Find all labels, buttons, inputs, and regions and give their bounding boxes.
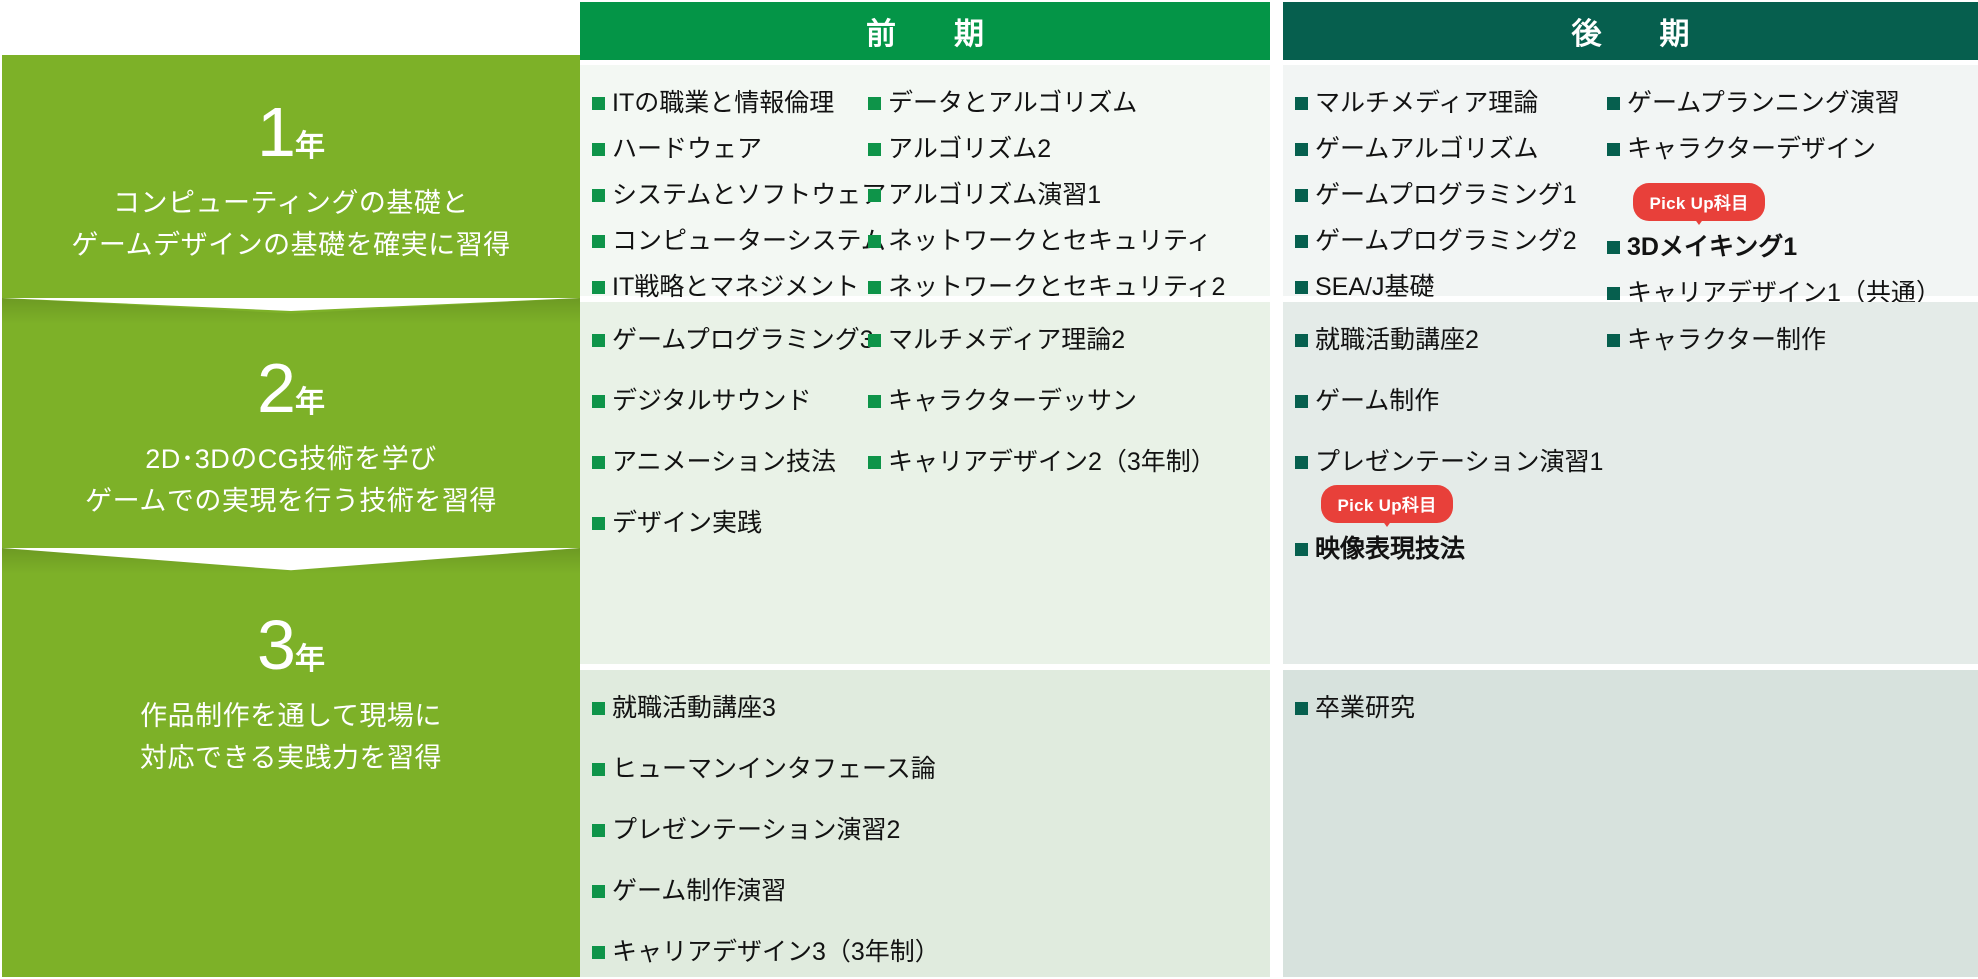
year-2-suffix: 年 (295, 386, 325, 419)
year-3-number-row: 3年 (2, 610, 580, 680)
course-item[interactable]: プレゼンテーション演習1 (1295, 450, 1607, 475)
course-item[interactable]: アルゴリズム演習1 (868, 183, 1208, 208)
bullet-square-icon (868, 395, 881, 408)
cell-year1-semester1-col2: データとアルゴリズム アルゴリズム2 アルゴリズム演習1 ネットワークとセキュリ… (868, 91, 1208, 296)
header-semester-2-label: 後 期 (1558, 9, 1704, 53)
bullet-square-icon (868, 334, 881, 347)
bullet-square-icon (592, 235, 605, 248)
course-item[interactable]: キャリアデザイン2（3年制） (868, 450, 1208, 475)
course-label: キャラクター制作 (1627, 328, 1826, 353)
year-panel-1: 1年 コンピューティングの基礎と ゲームデザインの基礎を確実に習得 (2, 55, 580, 298)
course-item[interactable]: ヒューマンインタフェース論 (592, 757, 992, 782)
course-item[interactable]: キャラクターデッサン (868, 389, 1208, 414)
course-item[interactable]: デジタルサウンド (592, 389, 868, 414)
cell-year3-semester1: 就職活動講座3 ヒューマンインタフェース論 プレゼンテーション演習2 ゲーム制作… (580, 670, 1270, 977)
course-item[interactable]: ハードウェア (592, 137, 868, 162)
course-item[interactable]: コンピューターシステム (592, 229, 868, 254)
course-label: デザイン実践 (612, 511, 762, 536)
course-item[interactable]: 卒業研究 (1295, 696, 1695, 721)
year-1-number: 1 (257, 93, 295, 171)
year-2-number-row: 2年 (2, 353, 580, 423)
pickup-badge-year2: Pick Up科目 (1321, 485, 1453, 523)
course-label: アルゴリズム2 (888, 137, 1051, 162)
course-label: ゲームプログラミング3 (612, 328, 874, 353)
course-item[interactable]: ITの職業と情報倫理 (592, 91, 868, 116)
cell-year2-semester2-col1: 就職活動講座2 ゲーム制作 プレゼンテーション演習1 Pick Up科目 映像表… (1283, 328, 1607, 664)
course-item[interactable]: ゲームプログラミング3 (592, 328, 868, 353)
bullet-square-icon (868, 97, 881, 110)
curriculum-chart: 前 期 後 期 1年 コンピューティングの基礎と ゲームデザインの基礎を確実に習… (0, 0, 1978, 979)
course-label: システムとソフトウェア (612, 183, 886, 208)
course-label: ゲームプランニング演習 (1627, 91, 1900, 116)
bullet-square-icon (592, 824, 605, 837)
bullet-square-icon (592, 189, 605, 202)
bullet-square-icon (1295, 702, 1308, 715)
course-item[interactable]: IT戦略とマネジメント (592, 275, 868, 300)
cell-year2-semester2: 就職活動講座2 ゲーム制作 プレゼンテーション演習1 Pick Up科目 映像表… (1283, 302, 1978, 664)
bullet-square-icon (592, 885, 605, 898)
course-label: 映像表現技法 (1315, 537, 1465, 562)
cell-year1-semester2-col2: ゲームプランニング演習 キャラクターデザイン Pick Up科目 3Dメイキング… (1607, 91, 1947, 296)
cell-year1-semester2: マルチメディア理論 ゲームアルゴリズム ゲームプログラミング1 ゲームプログラミ… (1283, 65, 1978, 296)
bullet-square-icon (592, 946, 605, 959)
course-label: ゲーム制作 (1315, 389, 1439, 414)
course-item[interactable]: マルチメディア理論 (1295, 91, 1607, 116)
course-item[interactable]: ゲームプランニング演習 (1607, 91, 1947, 116)
bullet-square-icon (592, 763, 605, 776)
bullet-square-icon (868, 189, 881, 202)
course-label: ネットワークとセキュリティ2 (888, 275, 1225, 300)
year-3-description-line-1: 作品制作を通して現場に (2, 696, 580, 738)
course-label: アルゴリズム演習1 (888, 183, 1101, 208)
course-item[interactable]: ゲーム制作 (1295, 389, 1607, 414)
pickup-badge-tail-icon (1691, 214, 1707, 225)
course-item[interactable]: アルゴリズム2 (868, 137, 1208, 162)
year-3-number: 3 (257, 606, 295, 684)
header-semester-2: 後 期 (1283, 2, 1978, 60)
year-1-suffix: 年 (295, 130, 325, 163)
course-label: コンピューターシステム (612, 229, 886, 254)
course-item[interactable]: データとアルゴリズム (868, 91, 1208, 116)
course-item[interactable]: キャリアデザイン3（3年制） (592, 940, 992, 965)
course-label: ヒューマンインタフェース論 (612, 757, 936, 782)
course-label: マルチメディア理論2 (888, 328, 1125, 353)
cell-year2-semester1-col1: ゲームプログラミング3 デジタルサウンド アニメーション技法 デザイン実践 (580, 328, 868, 664)
course-label: ゲームプログラミング2 (1315, 229, 1577, 254)
course-label: アニメーション技法 (612, 450, 836, 475)
course-label: 就職活動講座3 (612, 696, 776, 721)
course-label: SEA/J基礎 (1315, 275, 1434, 300)
bullet-square-icon (868, 281, 881, 294)
course-item[interactable]: SEA/J基礎 (1295, 275, 1607, 300)
bullet-square-icon (1607, 143, 1620, 156)
bullet-square-icon (1295, 395, 1308, 408)
course-label: ゲーム制作演習 (612, 879, 786, 904)
course-item[interactable]: キャラクター制作 (1607, 328, 1947, 353)
year-1-description-line-1: コンピューティングの基礎と (2, 183, 580, 225)
year-3-description: 作品制作を通して現場に 対応できる実践力を習得 (2, 696, 580, 780)
course-label: キャリアデザイン3（3年制） (612, 940, 940, 965)
year-3-description-line-2: 対応できる実践力を習得 (2, 738, 580, 780)
bullet-square-icon (868, 143, 881, 156)
cell-year3-semester2-col1: 卒業研究 (1283, 696, 1695, 977)
year-1-number-row: 1年 (2, 97, 580, 167)
bullet-square-icon (592, 702, 605, 715)
bullet-square-icon (1295, 143, 1308, 156)
bullet-square-icon (592, 517, 605, 530)
cell-year1-semester1: ITの職業と情報倫理 ハードウェア システムとソフトウェア コンピューターシステ… (580, 65, 1270, 296)
course-item[interactable]: プレゼンテーション演習2 (592, 818, 992, 843)
year-panel-2: 2年 2D･3DのCG技術を学び ゲームでの実現を行う技術を習得 (2, 298, 580, 548)
bullet-square-icon (592, 334, 605, 347)
course-item[interactable]: 就職活動講座2 (1295, 328, 1607, 353)
year-2-description: 2D･3DのCG技術を学び ゲームでの実現を行う技術を習得 (2, 439, 580, 523)
bullet-square-icon (868, 456, 881, 469)
year-2-description-line-1: 2D･3DのCG技術を学び (2, 439, 580, 481)
year-panel-3-chevron-shadow (2, 548, 580, 574)
bullet-square-icon (592, 97, 605, 110)
bullet-square-icon (1295, 543, 1308, 556)
course-item[interactable]: ゲームプログラミング1 (1295, 183, 1607, 208)
bullet-square-icon (592, 456, 605, 469)
course-item[interactable]: 就職活動講座3 (592, 696, 992, 721)
bullet-square-icon (1607, 97, 1620, 110)
course-label: キャリアデザイン2（3年制） (888, 450, 1216, 475)
year-2-description-line-2: ゲームでの実現を行う技術を習得 (2, 481, 580, 523)
course-label: マルチメディア理論 (1315, 91, 1538, 116)
cell-year2-semester1: ゲームプログラミング3 デジタルサウンド アニメーション技法 デザイン実践 マル… (580, 302, 1270, 664)
course-label: 卒業研究 (1315, 696, 1415, 721)
course-item[interactable]: ゲーム制作演習 (592, 879, 992, 904)
course-item[interactable]: ネットワークとセキュリティ2 (868, 275, 1208, 300)
course-label: ネットワークとセキュリティ (888, 229, 1212, 254)
bullet-square-icon (592, 395, 605, 408)
course-item[interactable]: アニメーション技法 (592, 450, 868, 475)
cell-year3-semester1-col1: 就職活動講座3 ヒューマンインタフェース論 プレゼンテーション演習2 ゲーム制作… (580, 696, 992, 977)
course-label: ITの職業と情報倫理 (612, 91, 834, 116)
course-label: ハードウェア (612, 137, 762, 162)
course-item-pickup[interactable]: 映像表現技法 (1295, 537, 1607, 562)
course-label: IT戦略とマネジメント (612, 275, 859, 300)
year-1-description: コンピューティングの基礎と ゲームデザインの基礎を確実に習得 (2, 183, 580, 267)
course-label: 3Dメイキング1 (1627, 235, 1797, 260)
pickup-badge-tail-icon (1379, 516, 1395, 527)
course-item[interactable]: デザイン実践 (592, 511, 868, 536)
header-semester-1: 前 期 (580, 2, 1270, 60)
course-label: ゲームアルゴリズム (1315, 137, 1539, 162)
course-item-pickup[interactable]: 3Dメイキング1 (1607, 235, 1947, 260)
header-semester-1-label: 前 期 (852, 9, 998, 53)
course-item[interactable]: マルチメディア理論2 (868, 328, 1208, 353)
course-label: データとアルゴリズム (888, 91, 1137, 116)
course-label: ゲームプログラミング1 (1315, 183, 1577, 208)
course-item[interactable]: ネットワークとセキュリティ (868, 229, 1208, 254)
cell-year1-semester2-col1: マルチメディア理論 ゲームアルゴリズム ゲームプログラミング1 ゲームプログラミ… (1283, 91, 1607, 296)
bullet-square-icon (1295, 235, 1308, 248)
course-item[interactable]: キャラクターデザイン (1607, 137, 1947, 162)
bullet-square-icon (1295, 456, 1308, 469)
course-label: 就職活動講座2 (1315, 328, 1479, 353)
bullet-square-icon (1295, 334, 1308, 347)
course-item[interactable]: ゲームプログラミング2 (1295, 229, 1607, 254)
bullet-square-icon (1295, 281, 1308, 294)
course-label: デジタルサウンド (612, 389, 812, 414)
pickup-badge-year1: Pick Up科目 (1633, 183, 1765, 221)
course-label: プレゼンテーション演習2 (612, 818, 900, 843)
course-item[interactable]: システムとソフトウェア (592, 183, 868, 208)
year-2-number: 2 (257, 349, 295, 427)
course-label: キャラクターデザイン (1627, 137, 1876, 162)
course-label: プレゼンテーション演習1 (1315, 450, 1603, 475)
cell-year1-semester1-col1: ITの職業と情報倫理 ハードウェア システムとソフトウェア コンピューターシステ… (580, 91, 868, 296)
cell-year2-semester2-col2: キャラクター制作 (1607, 328, 1947, 664)
year-panel-2-chevron-shadow (2, 298, 580, 324)
bullet-square-icon (592, 143, 605, 156)
bullet-square-icon (1607, 334, 1620, 347)
bullet-square-icon (592, 281, 605, 294)
cell-year2-semester1-col2: マルチメディア理論2 キャラクターデッサン キャリアデザイン2（3年制） (868, 328, 1208, 664)
year-3-suffix: 年 (295, 643, 325, 676)
course-item[interactable]: ゲームアルゴリズム (1295, 137, 1607, 162)
cell-year3-semester2: 卒業研究 (1283, 670, 1978, 977)
course-label: キャラクターデッサン (888, 389, 1137, 414)
bullet-square-icon (1607, 241, 1620, 254)
year-1-description-line-2: ゲームデザインの基礎を確実に習得 (2, 225, 580, 267)
bullet-square-icon (1295, 97, 1308, 110)
bullet-square-icon (868, 235, 881, 248)
year-panel-3: 3年 作品制作を通して現場に 対応できる実践力を習得 (2, 548, 580, 977)
bullet-square-icon (1295, 189, 1308, 202)
bullet-square-icon (1607, 287, 1620, 300)
